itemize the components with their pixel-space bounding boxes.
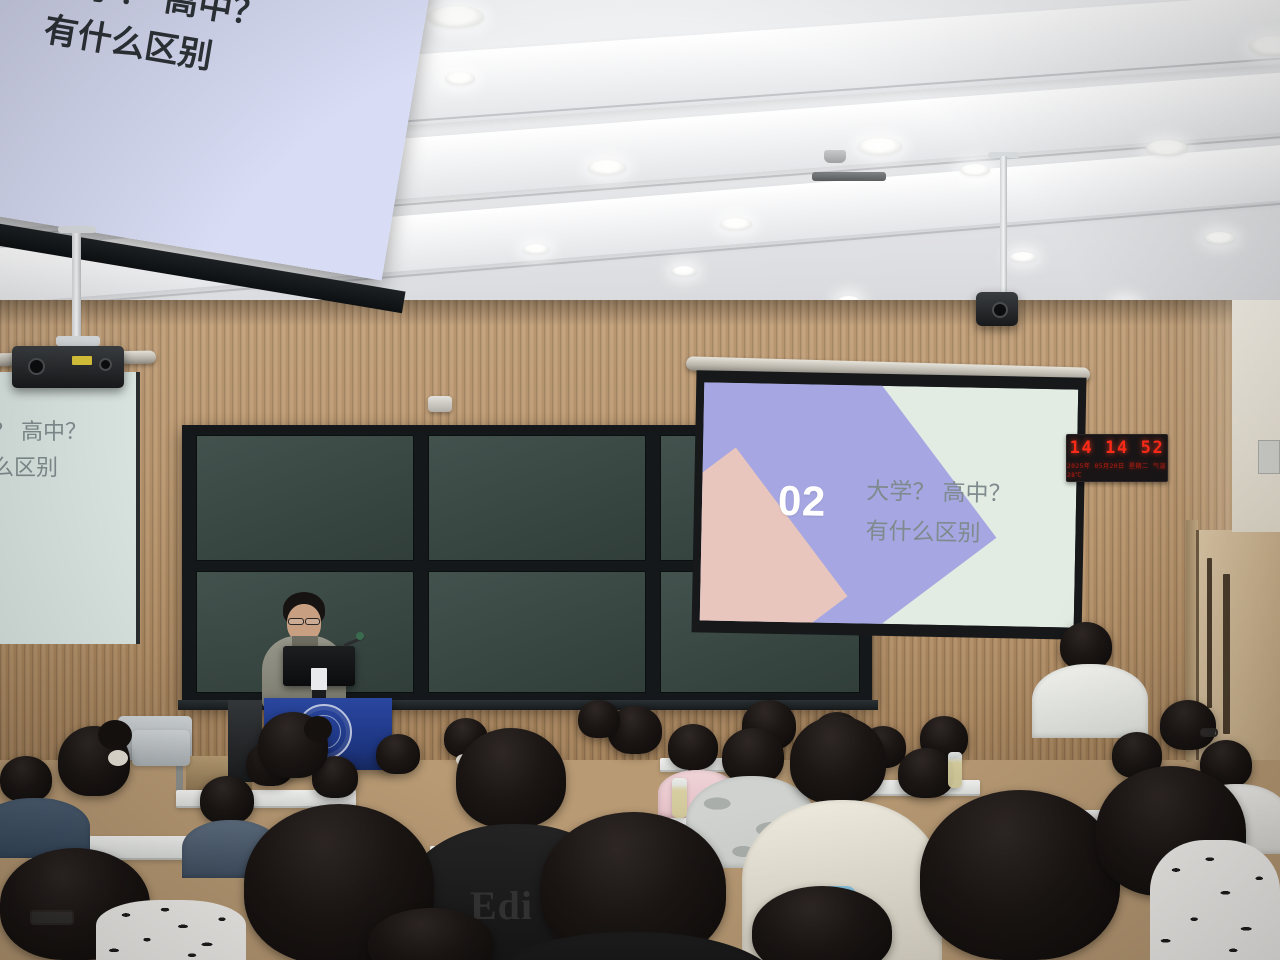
ceiling-light <box>588 160 626 175</box>
ceiling-light <box>428 6 484 28</box>
audience-glasses-icon <box>30 910 74 925</box>
wall-notice-board <box>1258 440 1280 474</box>
chalkboard-panel <box>196 435 414 561</box>
ceiling-vent <box>812 172 886 181</box>
projector-bracket <box>56 336 100 346</box>
audience-head <box>376 734 420 774</box>
audience-head <box>1060 622 1112 670</box>
audience-head <box>456 728 566 828</box>
ceiling-light <box>858 138 902 155</box>
ceiling-light <box>720 218 752 230</box>
ceiling-light <box>523 244 549 254</box>
audience-head <box>668 724 718 770</box>
audience-head <box>898 748 954 798</box>
ceiling-light <box>1010 252 1036 262</box>
slide-title-line-1: 大学？ 高中？ <box>866 476 1012 512</box>
wall-shadow <box>0 300 1280 326</box>
water-bottle <box>948 752 962 788</box>
slide-number: 02 <box>778 480 826 523</box>
led-wall-clock: 14 14 52 2025年 05月20日 星期二 气温 28℃ <box>1066 434 1168 482</box>
door-gap <box>1207 558 1212 708</box>
microphone-head-icon <box>356 632 364 640</box>
audience-chair <box>132 730 190 766</box>
audience-head <box>1160 700 1216 750</box>
audience-head <box>578 700 620 738</box>
slide-title-line-2: 有什么区别 <box>865 516 981 552</box>
ceiling-light <box>960 164 990 176</box>
projector-label <box>72 356 92 365</box>
left-slide-title-line-1: ？ 高中？ <box>0 414 87 446</box>
ceiling-light <box>445 72 475 85</box>
door-gap <box>1223 574 1230 734</box>
projector-mount-pole <box>72 230 81 336</box>
main-projection-screen[interactable]: 02 大学？ 高中？ 有什么区别 <box>700 382 1079 627</box>
left-wall-projection-screen[interactable]: ？ 高中？ 么区别 <box>0 372 140 644</box>
hair-bun <box>98 720 132 750</box>
audience-head <box>790 716 886 804</box>
wall-speaker-icon <box>428 396 452 412</box>
left-slide-title-line-2: 么区别 <box>0 450 58 482</box>
water-bottle <box>672 778 687 818</box>
projector-mount-pole <box>1000 156 1007 294</box>
monitor-label-card <box>311 668 327 690</box>
presenter-glasses-icon <box>305 618 320 625</box>
clock-time: 14 14 52 <box>1070 438 1165 458</box>
projector-lens-icon <box>99 358 112 371</box>
clock-date-row: 2025年 05月20日 星期二 气温 28℃ <box>1067 461 1167 479</box>
audience-head <box>0 756 52 802</box>
projector-lens-icon <box>28 358 45 375</box>
hair-tie <box>108 750 128 766</box>
slide-canvas: 02 大学？ 高中？ 有什么区别 <box>700 382 1079 627</box>
audience-glasses-icon <box>1200 728 1218 737</box>
ceiling-light <box>1205 232 1235 244</box>
ceiling-light <box>672 266 696 276</box>
wall-column-light <box>1232 300 1280 532</box>
smoke-detector-icon <box>824 150 846 163</box>
audience-head <box>200 776 254 824</box>
audience-shoulders <box>1032 664 1148 738</box>
audience-head <box>920 790 1120 960</box>
chalkboard-panel <box>428 435 646 561</box>
left-screen-edge <box>136 372 140 644</box>
ceiling-light <box>1146 140 1188 156</box>
chalkboard-panel <box>428 571 646 693</box>
lecture-hall-photo: 02 大学？ 高中？ 有什么区别 大学？ 高中？ 有什么区别 ？ 高中？ 么区别 <box>0 0 1280 960</box>
patterned-shirt <box>96 900 246 960</box>
left-slide-canvas: ？ 高中？ 么区别 <box>0 372 140 644</box>
projector-lens-icon <box>992 302 1008 318</box>
presenter-glasses-icon <box>288 618 304 625</box>
projector-ceiling-plate <box>58 226 96 233</box>
hair-bun <box>304 716 332 742</box>
patterned-shirt <box>1150 840 1280 960</box>
